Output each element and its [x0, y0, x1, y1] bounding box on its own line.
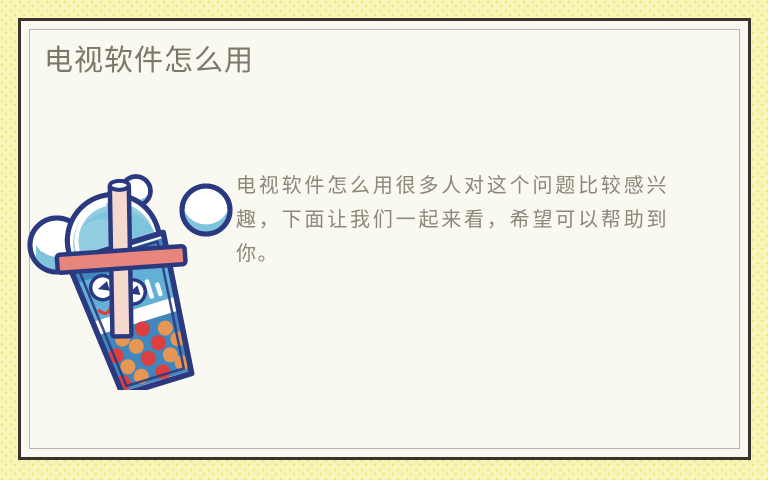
body-paragraph: 电视软件怎么用很多人对这个问题比较感兴趣，下面让我们一起来看，希望可以帮助到你。 [236, 168, 668, 270]
page-title: 电视软件怎么用 [44, 42, 254, 78]
poster-card: 电视软件怎么用 [0, 0, 768, 480]
bubble-tea-illustration [20, 145, 240, 390]
bubble-right-icon [182, 186, 230, 234]
